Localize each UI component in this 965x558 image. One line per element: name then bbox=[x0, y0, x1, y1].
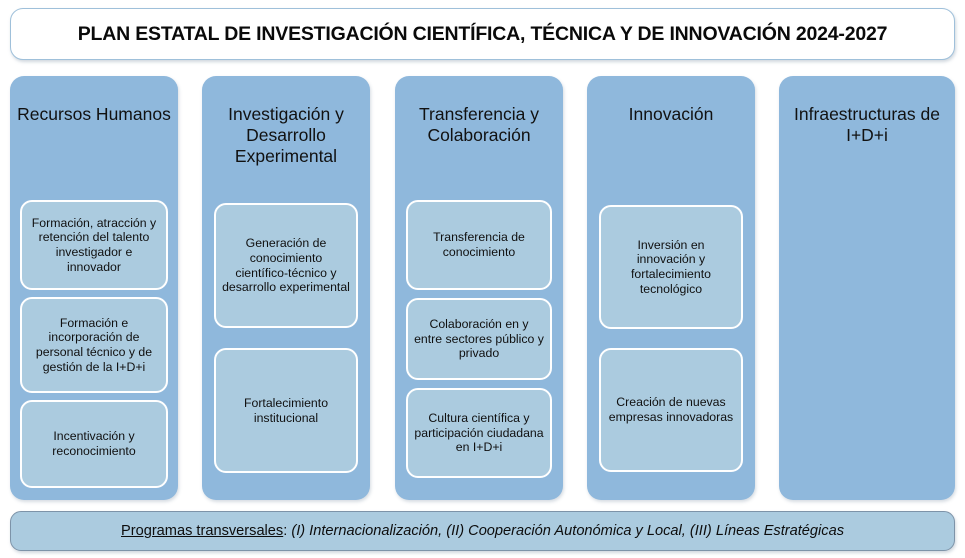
pillar-card-text: Inversión en innovación y fortalecimient… bbox=[607, 238, 735, 296]
programas-transversales-banner: Programas transversales: (I) Internacion… bbox=[10, 511, 955, 551]
programas-transversales-text: Programas transversales: (I) Internacion… bbox=[121, 523, 844, 539]
pillar-card[interactable]: Fortalecimiento institucional bbox=[214, 348, 358, 473]
pillar-card[interactable]: Colaboración en y entre sectores público… bbox=[406, 298, 552, 380]
pillar-card-text: Colaboración en y entre sectores público… bbox=[414, 317, 544, 361]
pillar-card[interactable]: Transferencia de conocimiento bbox=[406, 200, 552, 290]
pillar-header-innovacion: Innovación bbox=[593, 104, 749, 125]
pillar-card-text: Incentivación y reconocimiento bbox=[28, 429, 160, 458]
pillar-column-investigacion-desarrollo[interactable]: Investigación y Desarrollo Experimental … bbox=[202, 76, 370, 500]
pillar-column-recursos-humanos[interactable]: Recursos Humanos Formación, atracción y … bbox=[10, 76, 178, 500]
pillar-column-infraestructuras[interactable]: Infraestructuras de I+D+i bbox=[779, 76, 955, 500]
pillar-columns: Recursos Humanos Formación, atracción y … bbox=[10, 76, 955, 500]
pillar-card[interactable]: Creación de nuevas empresas innovadoras bbox=[599, 348, 743, 472]
pillar-card[interactable]: Formación e incorporación de personal té… bbox=[20, 297, 168, 393]
pillar-card-text: Transferencia de conocimiento bbox=[414, 230, 544, 259]
pillar-header-transferencia-colaboracion: Transferencia y Colaboración bbox=[401, 104, 557, 146]
pillar-card-text: Generación de conocimiento científico-té… bbox=[222, 236, 350, 294]
page-title: PLAN ESTATAL DE INVESTIGACIÓN CIENTÍFICA… bbox=[78, 23, 888, 46]
pillar-header-investigacion-desarrollo: Investigación y Desarrollo Experimental bbox=[208, 104, 364, 167]
pillar-card[interactable]: Inversión en innovación y fortalecimient… bbox=[599, 205, 743, 329]
pillar-card[interactable]: Incentivación y reconocimiento bbox=[20, 400, 168, 488]
programas-transversales-label: Programas transversales bbox=[121, 523, 283, 539]
pillar-card-text: Cultura científica y participación ciuda… bbox=[414, 411, 544, 455]
diagram-root: PLAN ESTATAL DE INVESTIGACIÓN CIENTÍFICA… bbox=[0, 0, 965, 558]
pillar-header-recursos-humanos: Recursos Humanos bbox=[16, 104, 172, 125]
plan-title-banner: PLAN ESTATAL DE INVESTIGACIÓN CIENTÍFICA… bbox=[10, 8, 955, 60]
programas-transversales-body: (I) Internacionalización, (II) Cooperaci… bbox=[287, 523, 844, 539]
pillar-card[interactable]: Cultura científica y participación ciuda… bbox=[406, 388, 552, 478]
pillar-card-text: Formación e incorporación de personal té… bbox=[28, 316, 160, 374]
pillar-header-infraestructuras: Infraestructuras de I+D+i bbox=[785, 104, 949, 146]
pillar-card[interactable]: Generación de conocimiento científico-té… bbox=[214, 203, 358, 328]
pillar-card[interactable]: Formación, atracción y retención del tal… bbox=[20, 200, 168, 290]
pillar-column-innovacion[interactable]: Innovación Inversión en innovación y for… bbox=[587, 76, 755, 500]
pillar-card-text: Creación de nuevas empresas innovadoras bbox=[607, 395, 735, 424]
pillar-card-text: Formación, atracción y retención del tal… bbox=[28, 216, 160, 274]
pillar-column-transferencia-colaboracion[interactable]: Transferencia y Colaboración Transferenc… bbox=[395, 76, 563, 500]
pillar-card-text: Fortalecimiento institucional bbox=[222, 396, 350, 425]
